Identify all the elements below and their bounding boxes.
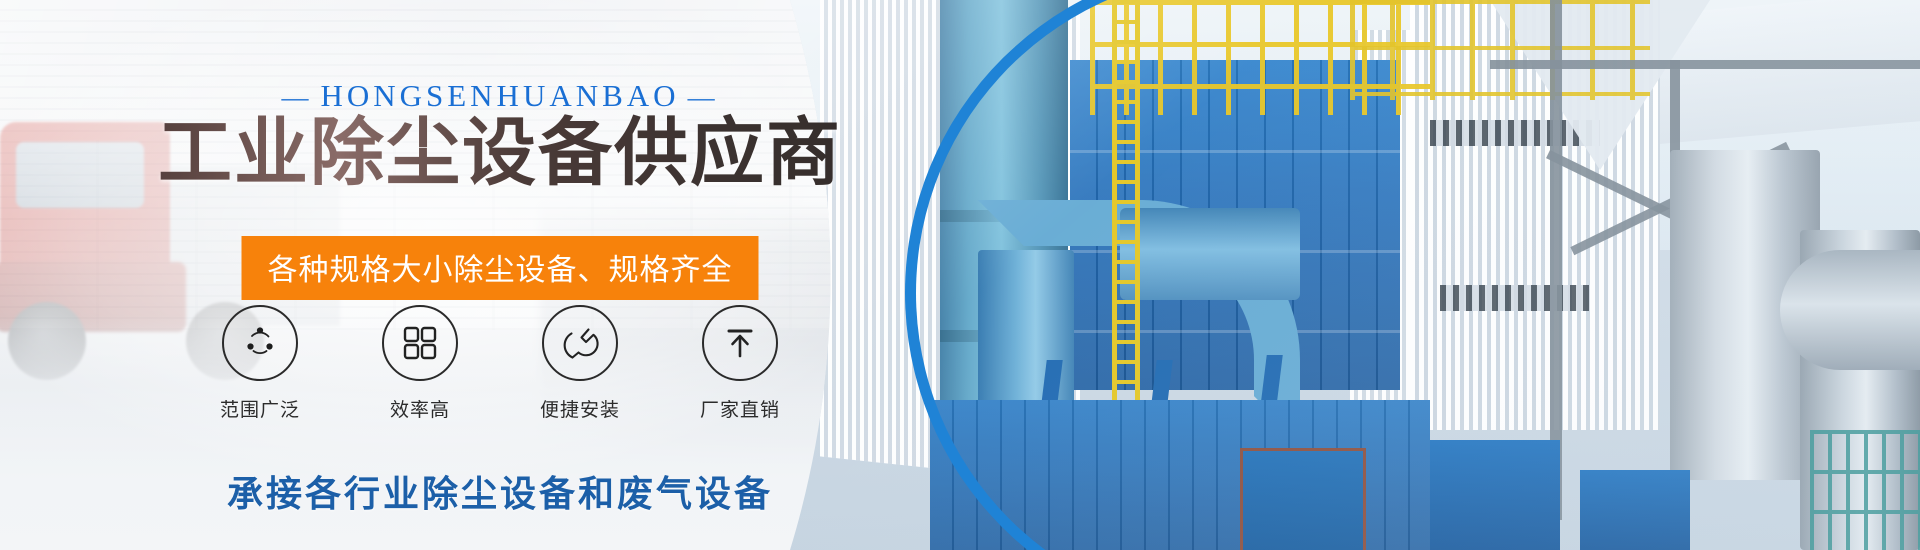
feature-list: 范围广泛 效率高 (214, 305, 786, 422)
feature-label: 便捷安装 (540, 395, 620, 422)
highlight-band: 各种规格大小除尘设备、规格齐全 (242, 236, 759, 300)
highlight-band-text: 各种规格大小除尘设备、规格齐全 (268, 254, 733, 287)
banner-content: —HONGSENHUANBAO— 工业除尘设备供应商 各种规格大小除尘设备、规格… (0, 0, 1000, 550)
wrench-tool-icon (542, 305, 618, 381)
dash-left-icon: — (273, 82, 320, 113)
feature-item-factory-direct[interactable]: 厂家直销 (694, 305, 786, 422)
feature-label: 范围广泛 (220, 395, 300, 422)
dash-right-icon: — (680, 82, 727, 113)
page-title: 工业除尘设备供应商 (0, 112, 1000, 195)
feature-label: 效率高 (390, 395, 450, 422)
brand-eyebrow-text: HONGSENHUANBAO (320, 78, 679, 113)
feature-item-installation[interactable]: 便捷安装 (534, 305, 626, 422)
upload-arrow-icon (702, 305, 778, 381)
feature-item-range[interactable]: 范围广泛 (214, 305, 306, 422)
feature-item-efficiency[interactable]: 效率高 (374, 305, 466, 422)
grid-squares-icon (382, 305, 458, 381)
brand-eyebrow: —HONGSENHUANBAO— (0, 78, 1000, 114)
promo-banner: —HONGSENHUANBAO— 工业除尘设备供应商 各种规格大小除尘设备、规格… (0, 0, 1920, 550)
tagline: 承接各行业除尘设备和废气设备 (0, 465, 1000, 517)
network-nodes-icon (222, 305, 298, 381)
feature-label: 厂家直销 (700, 395, 780, 422)
